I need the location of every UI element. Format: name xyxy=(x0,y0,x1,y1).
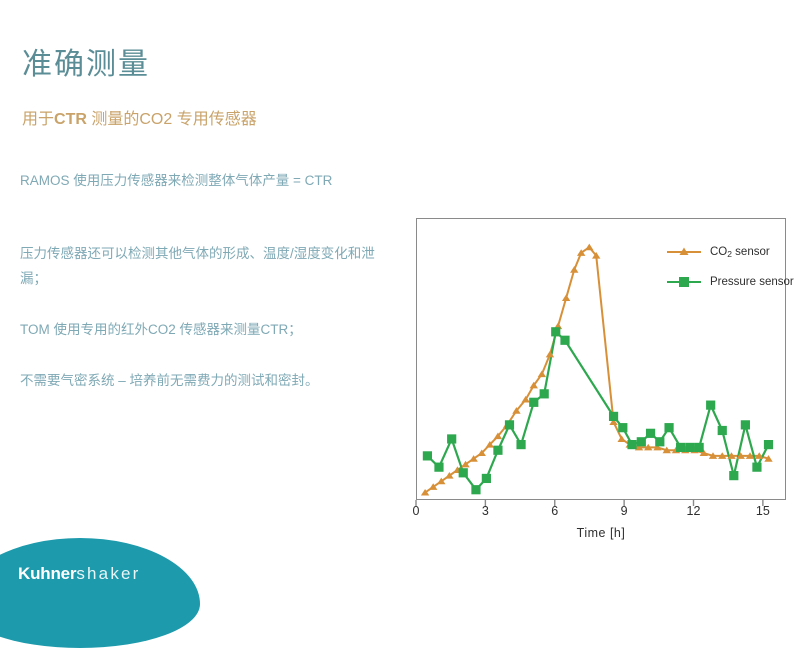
chart-x-tick-label: 6 xyxy=(551,504,558,518)
body-text-block: RAMOS 使用压力传感器来检测整体气体产量 = CTR 压力传感器还可以检测其… xyxy=(20,168,400,393)
body-paragraph-1: RAMOS 使用压力传感器来检测整体气体产量 = CTR xyxy=(20,168,400,193)
chart-x-tick-labels: 03691215 xyxy=(416,504,786,522)
subtitle-emphasis: CTR xyxy=(54,111,87,128)
chart-x-tick-label: 9 xyxy=(621,504,628,518)
slide-root: 准确测量 用于CTR 测量的CO2 专用传感器 RAMOS 使用压力传感器来检测… xyxy=(0,0,800,600)
body-paragraph-2: 压力传感器还可以检测其他气体的形成、温度/湿度变化和泄漏； xyxy=(20,241,400,291)
page-title: 准确测量 xyxy=(22,48,150,82)
chart-x-tick-label: 3 xyxy=(482,504,489,518)
brand-name-light: shaker xyxy=(76,564,140,583)
page-subtitle: 用于CTR 测量的CO2 专用传感器 xyxy=(22,110,257,130)
chart-x-tick-label: 15 xyxy=(756,504,770,518)
chart-x-tick-label: 0 xyxy=(413,504,420,518)
chart-x-tick-label: 12 xyxy=(687,504,701,518)
subtitle-suffix: 测量的CO2 专用传感器 xyxy=(87,111,257,128)
ctr-chart: CTR [mmol/L/h] CO2 sensor Pressure xyxy=(388,210,788,550)
body-paragraph-4: 不需要气密系统 – 培养前无需费力的测试和密封。 xyxy=(20,368,400,393)
chart-axis-ticks xyxy=(388,210,788,550)
chart-x-axis-label: Time [h] xyxy=(416,526,786,540)
body-paragraph-3: TOM 使用专用的红外CO2 传感器来测量CTR； xyxy=(20,317,400,342)
brand-logo-band: Kuhnershaker xyxy=(0,538,200,648)
brand-logo-text: Kuhnershaker xyxy=(18,564,141,584)
subtitle-prefix: 用于 xyxy=(22,111,54,128)
brand-name-bold: Kuhner xyxy=(18,564,76,583)
